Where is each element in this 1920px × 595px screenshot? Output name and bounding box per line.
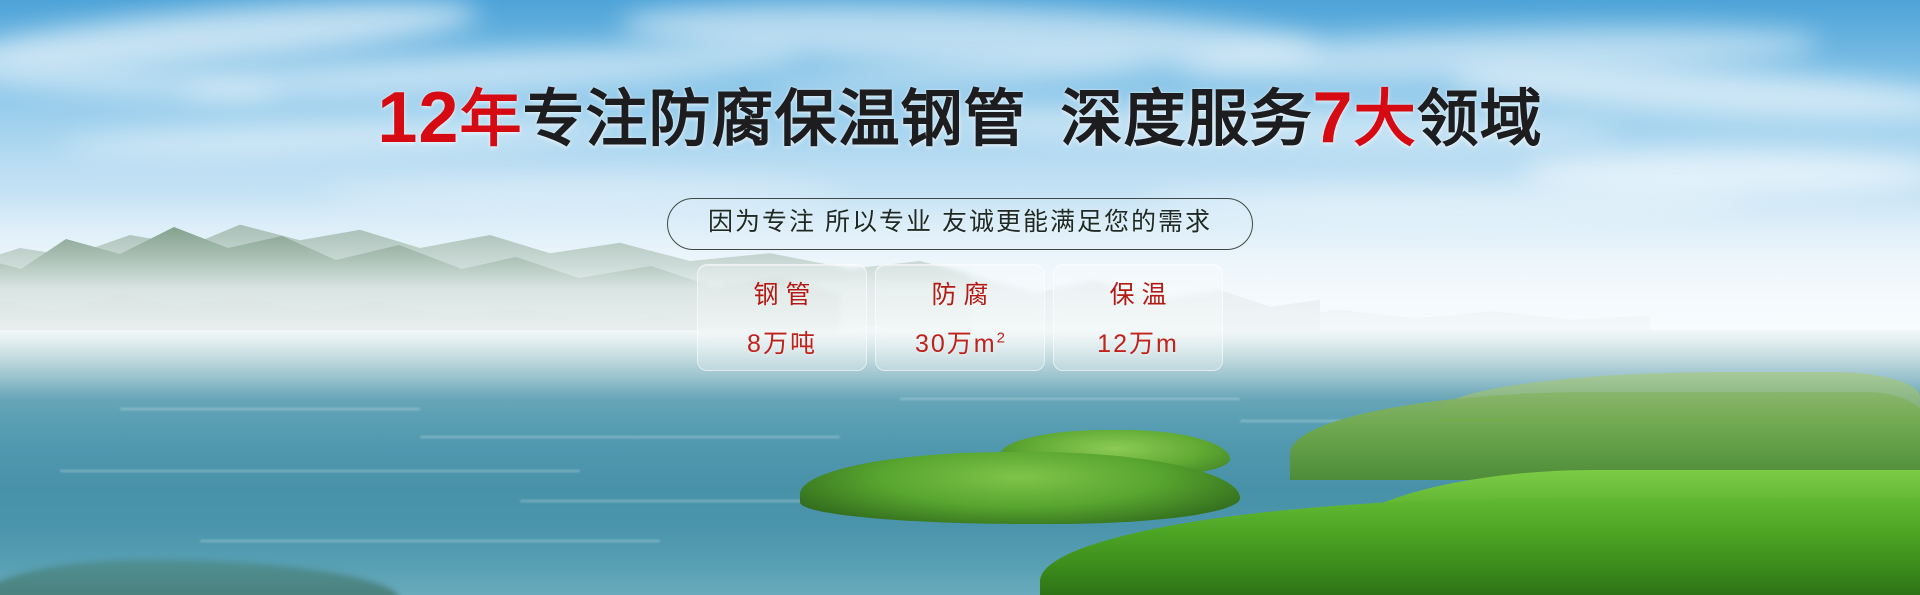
stat-card-title: 钢管 <box>746 275 817 311</box>
stat-card-value-text: 12万m <box>1097 330 1179 358</box>
stat-card-superscript: 2 <box>997 330 1005 347</box>
stat-card-group: 钢管 8万吨 防腐 30万m2 保温 12万m <box>0 264 1920 371</box>
headline-years-unit: 年 <box>459 85 522 154</box>
stat-card-value-text: 30万m <box>915 330 997 358</box>
headline-main-text: 专注防腐保温钢管 <box>523 85 1027 154</box>
hero-banner: 12年专注防腐保温钢管深度服务7大领域 因为专注 所以专业 友诚更能满足您的需求… <box>0 0 1920 595</box>
stat-card-value: 8万吨 <box>747 324 817 360</box>
headline: 12年专注防腐保温钢管深度服务7大领域 <box>0 82 1920 154</box>
subtitle-container: 因为专注 所以专业 友诚更能满足您的需求 <box>0 198 1920 250</box>
stat-card-title: 保温 <box>1102 275 1173 311</box>
stat-card-value-text: 8万吨 <box>747 330 817 358</box>
headline-fields-text: 领域 <box>1417 85 1543 154</box>
stat-card-value: 12万m <box>1097 324 1179 360</box>
headline-service-text: 深度服务 <box>1061 85 1313 154</box>
headline-fields-unit: 大 <box>1354 85 1417 154</box>
headline-years-number: 12 <box>377 78 459 158</box>
text-overlay: 12年专注防腐保温钢管深度服务7大领域 因为专注 所以专业 友诚更能满足您的需求… <box>0 0 1920 595</box>
subtitle-pill: 因为专注 所以专业 友诚更能满足您的需求 <box>667 198 1253 250</box>
headline-fields-number: 7 <box>1313 78 1354 158</box>
stat-card-value: 30万m2 <box>915 324 1005 360</box>
stat-card: 钢管 8万吨 <box>697 264 867 371</box>
stat-card-title: 防腐 <box>924 275 995 311</box>
stat-card: 防腐 30万m2 <box>875 264 1045 371</box>
stat-card: 保温 12万m <box>1053 264 1223 371</box>
